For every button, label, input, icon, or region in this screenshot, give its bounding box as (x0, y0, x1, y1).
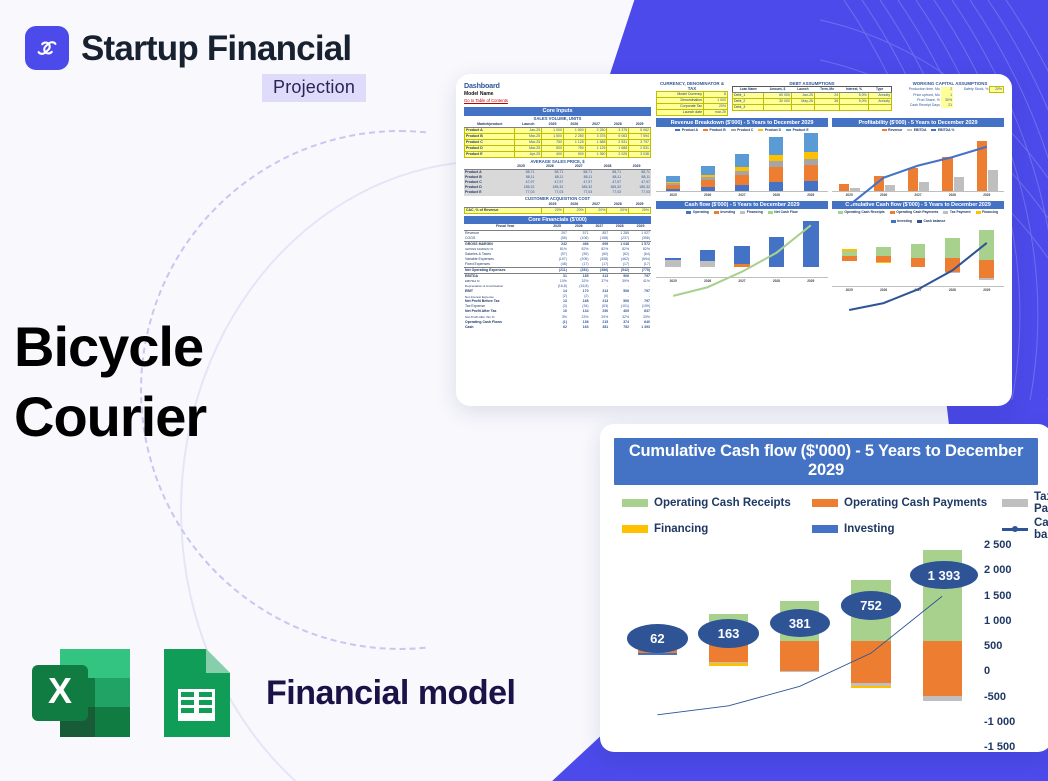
ytick-minus-500: -500 (984, 691, 1036, 703)
legend-label-investing: Investing (844, 523, 894, 535)
debt-2-0: Debt_3 (733, 104, 764, 110)
working-capital-block: WORKING CAPITAL ASSUMPTIONS Production t… (896, 81, 1004, 116)
prof-legend-2: EBITDA % (938, 128, 954, 132)
format-badges: X Financial model (30, 645, 515, 741)
dashboard-heading: Dashboard (464, 81, 651, 90)
legend-label-tax-payment: Tax Payment (1034, 491, 1048, 515)
wc-label-3: Cash Receipt Days (896, 103, 941, 108)
ytick-1000: 1 000 (984, 615, 1036, 627)
table-row: Cash621633817521 393 (464, 325, 651, 330)
legend-label-1: Product B (709, 128, 725, 132)
ytick-minus-1000: -1 000 (984, 716, 1036, 728)
legend-label-financing: Financing (654, 523, 708, 535)
page-title-line1: Bicycle (14, 312, 206, 382)
ytick-2500: 2 500 (984, 539, 1036, 551)
core-financials-table: Fiscal Year 2025 2026 2027 2028 2029 Rev… (464, 224, 651, 329)
cac-4: 20% (629, 207, 651, 213)
cumulative-plot (832, 224, 1004, 286)
sales-volume-table: Market/product Launch 2025 2026 2027 202… (464, 122, 651, 158)
brand-title: Startup Financial (81, 31, 351, 66)
legend-label-2: Product C (737, 128, 753, 132)
vol-4-1: 900 (563, 152, 585, 158)
legend-item-investing: Investing (812, 517, 1002, 541)
legend-label-operating-cash-payments: Operating Cash Payments (844, 497, 987, 509)
table-row: Product E Apr-25 400 900 1 350 2 025 3 0… (465, 152, 651, 158)
legend-item: Operating (686, 210, 709, 214)
avg-price-table: 2025 2026 2027 2028 2029 Product A 58,71… (464, 164, 651, 195)
page-title: Bicycle Courier (14, 312, 206, 452)
cf-legend-1: Investing (720, 210, 735, 214)
currency-assumptions-block: CURRENCY, DENOMINATOR & TAX Model Curren… (656, 81, 728, 116)
google-sheets-icon (158, 645, 234, 741)
ytick-1500: 1 500 (984, 590, 1036, 602)
vol-4-0: 400 (542, 152, 564, 158)
legend-item: Net Cash Flow (768, 210, 798, 214)
ebitda-margin-line (832, 133, 1004, 233)
rev-x-4: 2029 (800, 193, 822, 197)
cac-0: 20% (542, 207, 564, 213)
fin-18-2: 381 (590, 325, 610, 330)
legend-swatch-blue (812, 525, 838, 533)
profitability-chart-title: Profitability ($'000) - 5 Years to Decem… (832, 118, 1004, 127)
data-label-value-2029: 1 393 (928, 568, 961, 583)
legend-label-4: Product E (793, 128, 809, 132)
revenue-xaxis: 2025 2026 2027 2028 2029 (656, 191, 828, 197)
fin-18-0: 62 (546, 325, 568, 330)
chart-y-axis: 2 500 2 000 1 500 1 000 500 0 -500 -1 00… (978, 539, 1036, 752)
data-label-value-2026: 163 (718, 626, 740, 641)
table-row: CAC, % of Revenue 20% 20% 20% 20% 20% (465, 207, 651, 213)
legend-item-operating-cash-payments: Operating Cash Payments (812, 491, 1002, 515)
vol-4-2: 1 350 (585, 152, 607, 158)
cumulative-cash-flow-card: Cumulative Cash flow ($'000) - 5 Years t… (600, 424, 1048, 752)
brand-lockup: Startup Financial (25, 26, 351, 70)
rev-x-0: 2025 (662, 193, 684, 197)
table-row: Cash Receipt Days21 (896, 103, 1004, 108)
table-row: Production time, Mo 2 Safety Stock, % 20… (896, 87, 1004, 93)
cur-label-3: Launch date (657, 110, 704, 116)
brand-subtitle: Projection (262, 74, 366, 102)
core-financials-banner: Core Financials ($'000) (464, 216, 651, 225)
svg-text:X: X (48, 670, 72, 711)
fin-18-1: 163 (568, 325, 590, 330)
legend-swatch-gray (1002, 499, 1028, 507)
net-cash-flow-line (656, 215, 828, 322)
fin-name-18: Cash (464, 325, 546, 330)
chart-title: Cumulative Cash flow ($'000) - 5 Years t… (614, 438, 1038, 485)
rev-x-2: 2027 (731, 193, 753, 197)
revenue-plot (656, 133, 828, 191)
cash-flow-plot (656, 215, 828, 277)
cac-table: 2025 2026 2027 2028 2029 CAC, % of Reven… (464, 202, 651, 214)
fin-18-3: 752 (609, 325, 630, 330)
toc-link[interactable]: Go to Table of Contents (464, 98, 651, 103)
data-label-value-2025: 62 (650, 631, 664, 646)
legend-item: Product D (758, 128, 781, 132)
ytick-0: 0 (984, 665, 1036, 677)
prof-legend-1: EBITDA (914, 128, 927, 132)
cf-legend-2: Financing (747, 210, 763, 214)
legend-label-cash-balance: Cash balance (1034, 517, 1048, 541)
cash-flow-chart-title: Cash flow ($'000) - 5 Years to December … (656, 201, 828, 210)
cf-legend-3: Net Cash Flow (774, 210, 797, 214)
revenue-chart-title: Revenue Breakdown ($'000) - 5 Years to D… (656, 118, 828, 127)
data-label-2025: 62 (627, 624, 688, 653)
profitability-chart: Profitability ($'000) - 5 Years to Decem… (832, 118, 1004, 196)
data-label-2029: 1 393 (910, 561, 978, 590)
cash-balance-line (832, 224, 1004, 331)
legend-item: EBITDA (907, 128, 926, 132)
model-name-label: Model Name (464, 91, 651, 97)
legend-swatch-orange (812, 499, 838, 507)
rev-x-1: 2026 (696, 193, 718, 197)
debt-table: Loan Name Amount, $ Launch Term, Mo Inte… (732, 86, 892, 111)
vol-name-4: Product E (465, 152, 515, 158)
legend-item: Product C (731, 128, 754, 132)
data-label-2026: 163 (698, 619, 759, 648)
legend-swatch-line (1002, 525, 1028, 533)
legend-item: Investing (714, 210, 735, 214)
core-inputs-banner: Core Inputs (464, 107, 651, 116)
cash-flow-chart: Cash flow ($'000) - 5 Years to December … (656, 201, 828, 292)
data-label-value-2028: 752 (860, 598, 882, 613)
chart-legend: Operating Cash Receipts Operating Cash P… (614, 485, 1038, 541)
chart-plot-area: 62 163 381 752 1 393 (620, 551, 976, 741)
format-label: Financial model (266, 674, 515, 713)
legend-swatch-yellow (622, 525, 648, 533)
legend-label-0: Product A (682, 128, 698, 132)
cf-legend-0: Operating (693, 210, 709, 214)
legend-item: EBITDA % (931, 128, 954, 132)
currency-title: CURRENCY, DENOMINATOR & TAX (656, 81, 728, 91)
vol-4-3: 2 025 (607, 152, 629, 158)
table-row: Launch datemar-25 (657, 110, 728, 116)
cur-val-3: mar-25 (704, 110, 728, 116)
working-capital-table: Production time, Mo 2 Safety Stock, % 20… (896, 86, 1004, 108)
ytick-minus-1500: -1 500 (984, 741, 1036, 752)
currency-table: Model Currency$ Denomination1 000 Corpor… (656, 91, 728, 116)
vol-launch-4: Apr-25 (515, 152, 542, 158)
legend-item-financing: Financing (622, 517, 812, 541)
dashboard-inputs-column: Dashboard Model Name Go to Table of Cont… (464, 81, 651, 399)
legend-item-cash-balance: Cash balance (1002, 517, 1048, 541)
cac-1: 20% (563, 207, 585, 213)
cac-label: CAC, % of Revenue (465, 207, 542, 213)
dashboard-screenshot-card: Dashboard Model Name Go to Table of Cont… (456, 74, 1012, 406)
legend-swatch-green (622, 499, 648, 507)
microsoft-excel-icon: X (30, 645, 134, 741)
data-label-value-2027: 381 (789, 616, 811, 631)
vol-4-4: 3 038 (629, 152, 651, 158)
fin-18-4: 1 393 (630, 325, 651, 330)
wc-val-3: 21 (941, 103, 953, 108)
legend-item: Product B (703, 128, 726, 132)
table-row: Debt_3 (733, 104, 892, 110)
cac-2: 20% (585, 207, 607, 213)
page-title-line2: Courier (14, 382, 206, 452)
ytick-2000: 2 000 (984, 564, 1036, 576)
debt-assumptions-block: DEBT ASSUMPTIONS Loan Name Amount, $ Lau… (732, 81, 892, 116)
legend-label-operating-cash-receipts: Operating Cash Receipts (654, 497, 791, 509)
chart-body: 62 163 381 752 1 393 2 500 2 000 1 500 1… (614, 551, 1038, 752)
cac-3: 20% (607, 207, 629, 213)
legend-item: Product E (786, 128, 809, 132)
legend-item: Product A (675, 128, 698, 132)
legend-item-operating-cash-receipts: Operating Cash Receipts (622, 491, 812, 515)
ytick-500: 500 (984, 640, 1036, 652)
legend-item-tax-payment: Tax Payment (1002, 491, 1048, 515)
data-label-2028: 752 (841, 591, 902, 620)
rev-x-3: 2028 (765, 193, 787, 197)
e-loop-logo-icon (25, 26, 69, 70)
profitability-plot (832, 133, 1004, 191)
legend-item: Revenue (882, 128, 903, 132)
prof-legend-0: Revenue (888, 128, 902, 132)
revenue-breakdown-chart: Revenue Breakdown ($'000) - 5 Years to D… (656, 118, 828, 196)
dashboard-charts-column: CURRENCY, DENOMINATOR & TAX Model Curren… (656, 81, 1004, 399)
legend-item: Financing (740, 210, 763, 214)
legend-label-3: Product D (765, 128, 781, 132)
